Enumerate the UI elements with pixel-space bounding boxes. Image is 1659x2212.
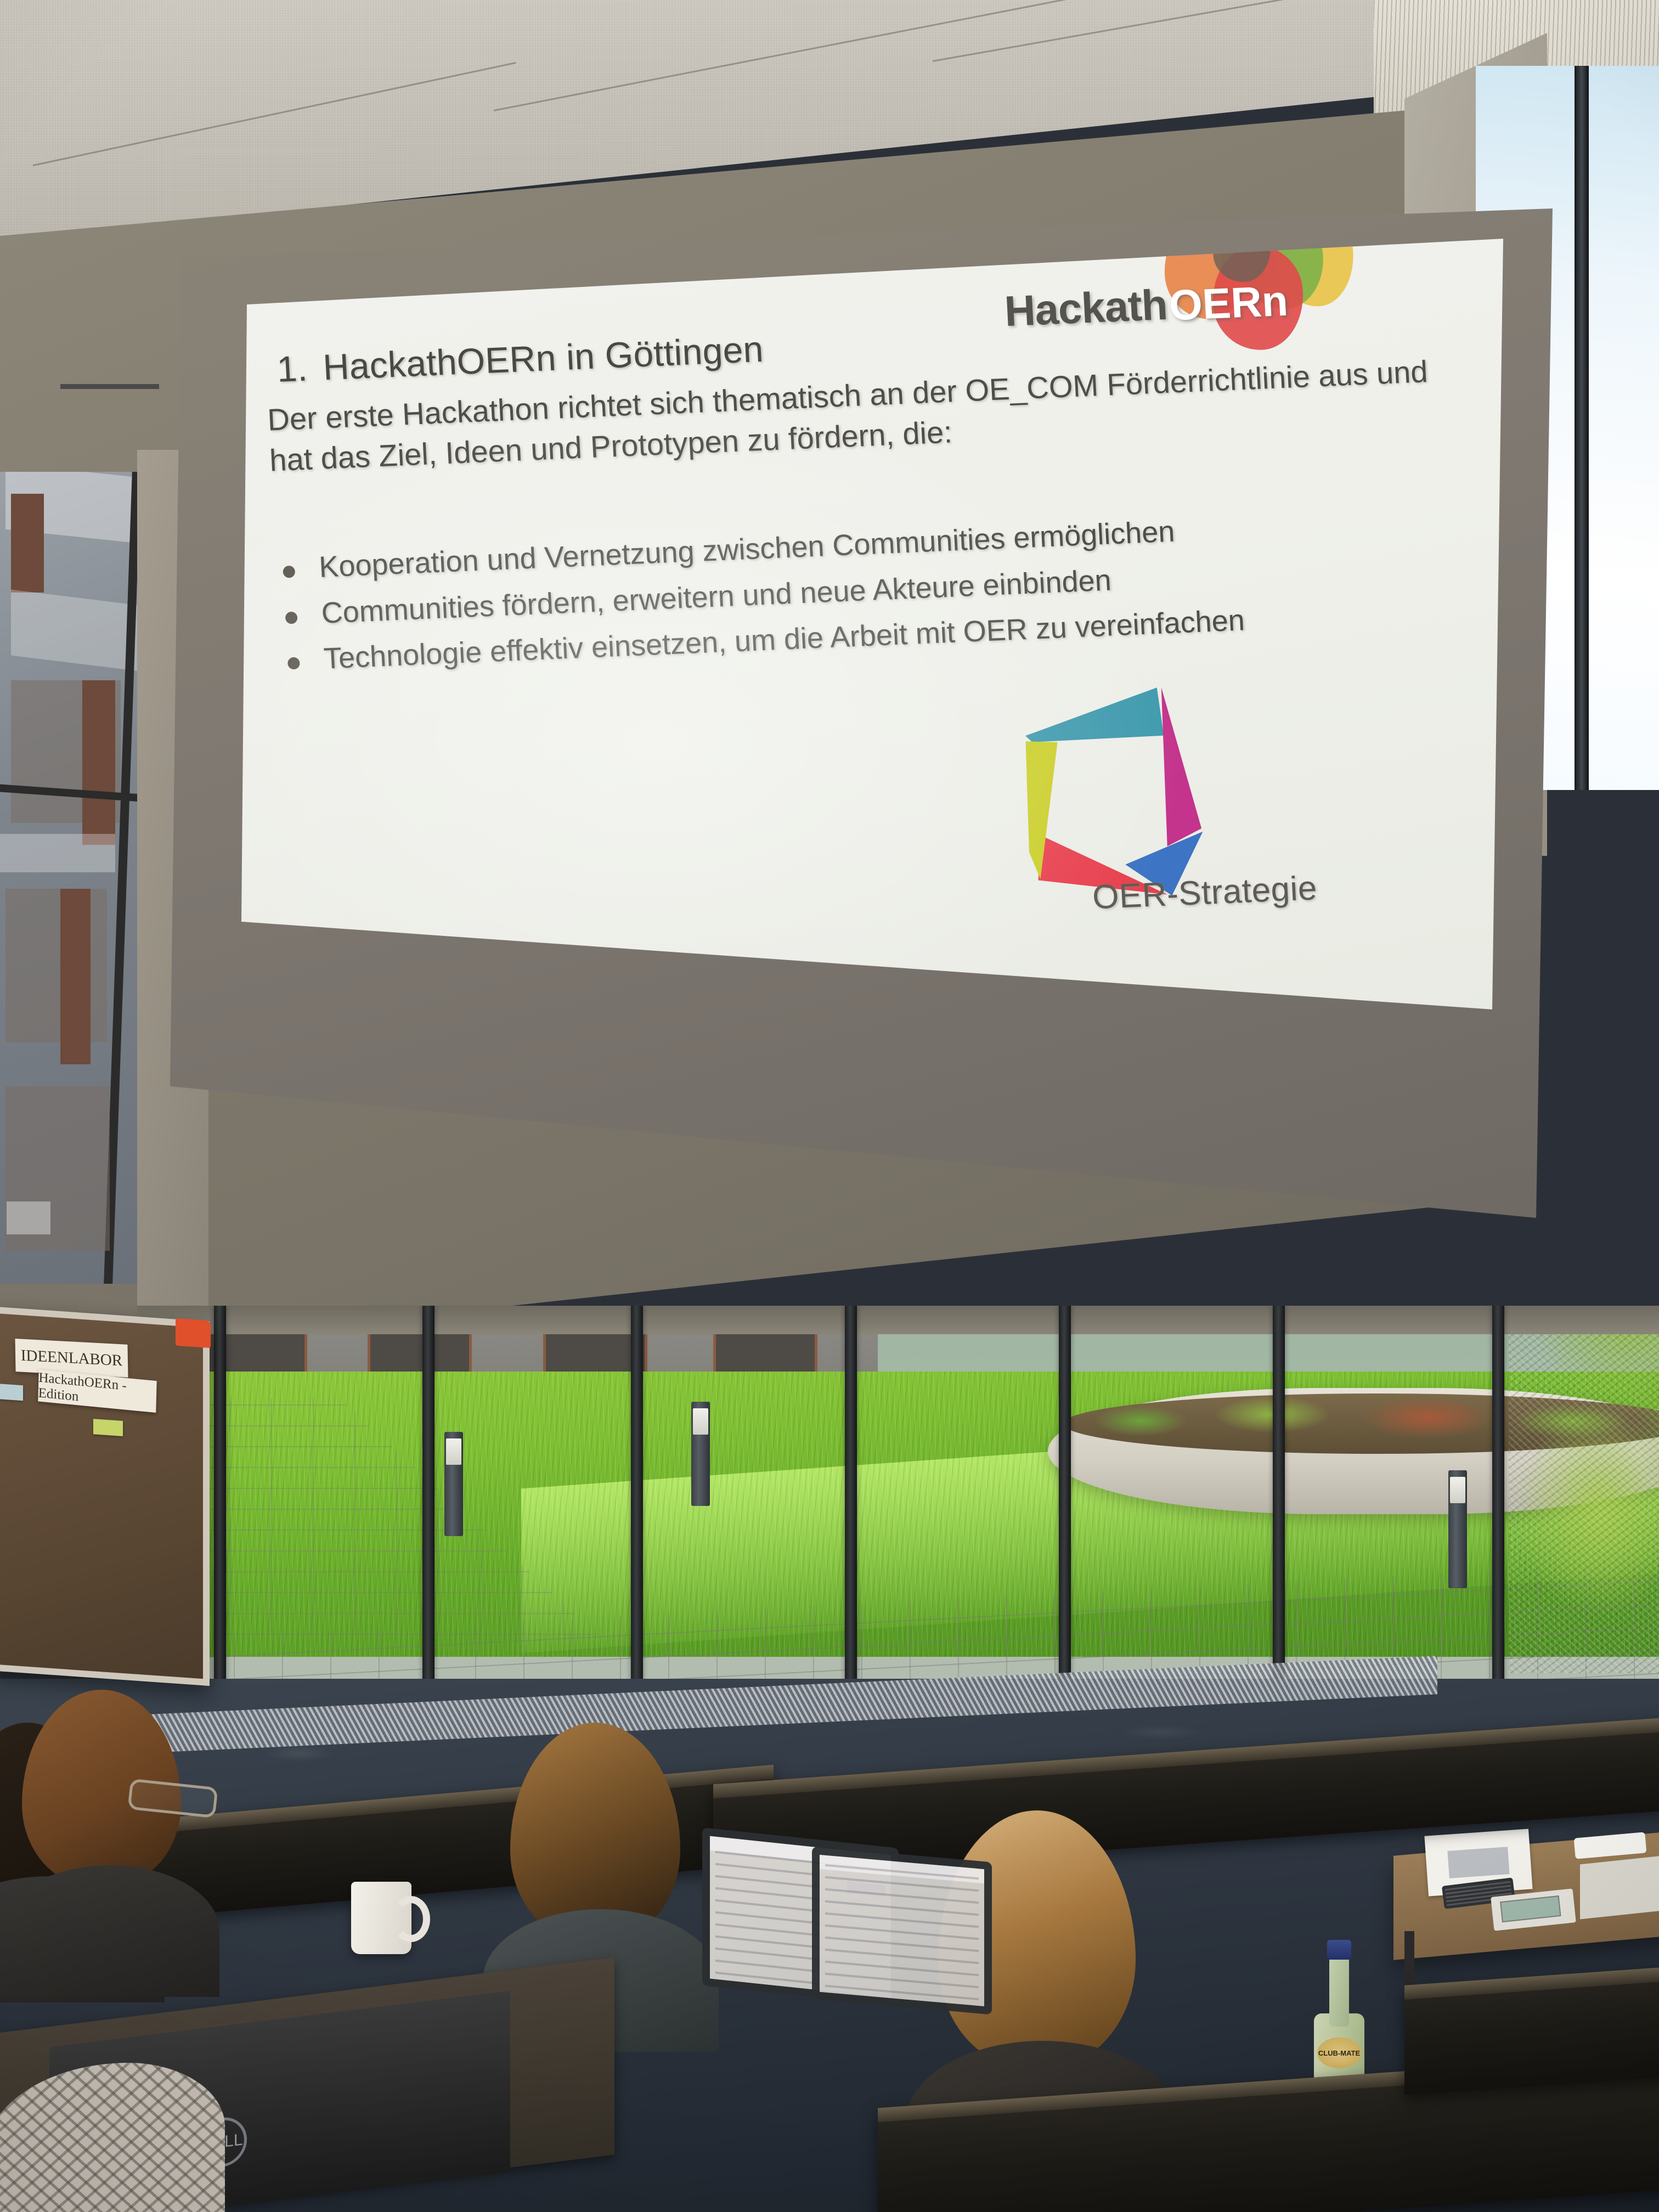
oer-strategie-logo: OER-Strategie [996,658,1350,957]
projected-slide: Hackath OERn 1.HackathOERn in Göttingen … [165,208,1569,1393]
projection-screen: Hackath OERn 1.HackathOERn in Göttingen … [165,208,1569,1393]
person-sweater-foreground [0,2063,225,2212]
bottle-neck [1329,1955,1349,2027]
pentagon-segment-magenta [1159,686,1203,846]
pinboard-note-title: IDEENLABOR [15,1339,128,1378]
pinboard-corner [176,1318,211,1348]
laptop-display [812,1847,992,2015]
bollard-lamp [691,1402,710,1506]
pentagon-segment-teal [1023,687,1164,742]
pinboard-note-subtitle: HackathOERn - Edition [38,1369,156,1413]
hackathoern-word-dark: Hackath [1003,280,1169,336]
bench-row-right-edge [1404,1965,1659,2095]
slide-title-number: 1. [276,346,324,390]
hackathoern-word-light: OERn [1168,276,1289,331]
window-mullion [1575,66,1589,790]
table-box [1580,1855,1659,1920]
bollard-lamp [1448,1470,1467,1588]
pinboard-sticky-note [0,1384,23,1401]
bottle-neck-label: CLUB-MATE [1317,2038,1361,2068]
pinboard-stand [60,351,159,389]
slide-bullet-list: Kooperation und Vernetzung zwischen Comm… [275,499,1461,686]
coffee-mug [351,1882,411,1954]
bottle-cap [1327,1940,1351,1960]
photo-scene: Hackath OERn 1.HackathOERn in Göttingen … [0,0,1659,2212]
slide-title-text: HackathOERn in Göttingen [322,329,764,388]
person-shoulders [0,1865,219,1997]
slide-title: 1.HackathOERn in Göttingen [276,328,764,390]
pinboard-sticky-note [93,1419,123,1436]
bollard-lamp [444,1432,463,1536]
pinboard: IDEENLABOR HackathOERn - Edition [0,1306,210,1686]
